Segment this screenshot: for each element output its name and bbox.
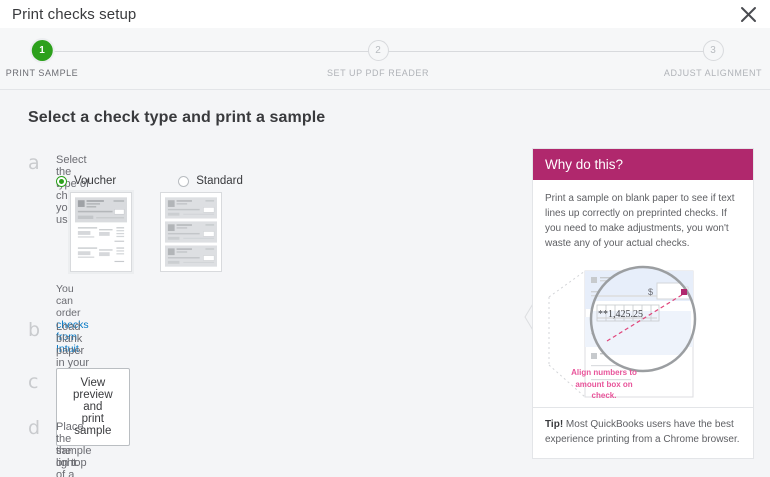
why-panel-tip: Tip! Most QuickBooks users have the best… <box>533 407 753 458</box>
illustration-annotation: Align numbers to amount box on check. <box>563 367 645 402</box>
tip-text: Most QuickBooks users have the best expe… <box>545 419 740 445</box>
radio-voucher-label: Voucher <box>74 175 116 187</box>
stepper-label-1: PRINT SAMPLE <box>6 68 78 78</box>
title-bar: Print checks setup <box>0 0 770 28</box>
tip-label: Tip! <box>545 419 563 430</box>
why-panel-text: Print a sample on blank paper to see if … <box>545 191 741 251</box>
section-title: Select a check type and print a sample <box>28 109 325 127</box>
stepper-bubble-2: 2 <box>367 40 388 61</box>
radio-voucher[interactable]: Voucher <box>56 175 116 187</box>
order-text-before: You can order <box>56 283 81 319</box>
stepper: 1 PRINT SAMPLE 2 SET UP PDF READER 3 ADJ… <box>0 28 770 90</box>
why-panel-heading: Why do this? <box>533 149 753 180</box>
substep-b-letter: b <box>28 319 48 341</box>
stepper-label-2: SET UP PDF READER <box>327 68 429 78</box>
stepper-step-print-sample[interactable]: 1 PRINT SAMPLE <box>6 40 78 78</box>
svg-text:$: $ <box>648 287 653 297</box>
stepper-bubble-1: 1 <box>31 40 52 61</box>
alignment-illustration: $ <box>545 257 741 407</box>
check-type-thumbnails <box>70 192 222 272</box>
why-do-this-panel: Why do this? Print a sample on blank pap… <box>532 148 754 459</box>
radio-voucher-dot <box>56 176 67 187</box>
radio-standard-label: Standard <box>196 175 243 187</box>
thumbnail-standard[interactable] <box>160 192 222 272</box>
stepper-step-adjust-alignment[interactable]: 3 ADJUST ALIGNMENT <box>664 40 762 78</box>
radio-standard[interactable]: Standard <box>178 175 243 187</box>
substep-c-letter: c <box>28 371 48 393</box>
print-checks-setup-dialog: Print checks setup 1 PRINT SAMPLE 2 SET … <box>0 0 770 477</box>
close-icon[interactable] <box>736 2 760 26</box>
radio-standard-dot <box>178 176 189 187</box>
illustration-amount-text: **1,425.25 <box>598 309 643 320</box>
stepper-label-3: ADJUST ALIGNMENT <box>664 68 762 78</box>
stepper-step-set-up-pdf-reader[interactable]: 2 SET UP PDF READER <box>327 40 429 78</box>
thumbnail-voucher[interactable] <box>70 192 132 272</box>
check-type-radio-group: Voucher Standard <box>56 175 243 187</box>
page-title-header: Print checks setup <box>0 6 136 23</box>
substep-d-letter: d <box>28 417 48 439</box>
substep-a-letter: a <box>28 152 48 174</box>
stepper-bubble-3: 3 <box>703 40 724 61</box>
why-panel-body: Print a sample on blank paper to see if … <box>533 180 753 458</box>
substep-d-text-line2: the light. <box>56 445 79 469</box>
